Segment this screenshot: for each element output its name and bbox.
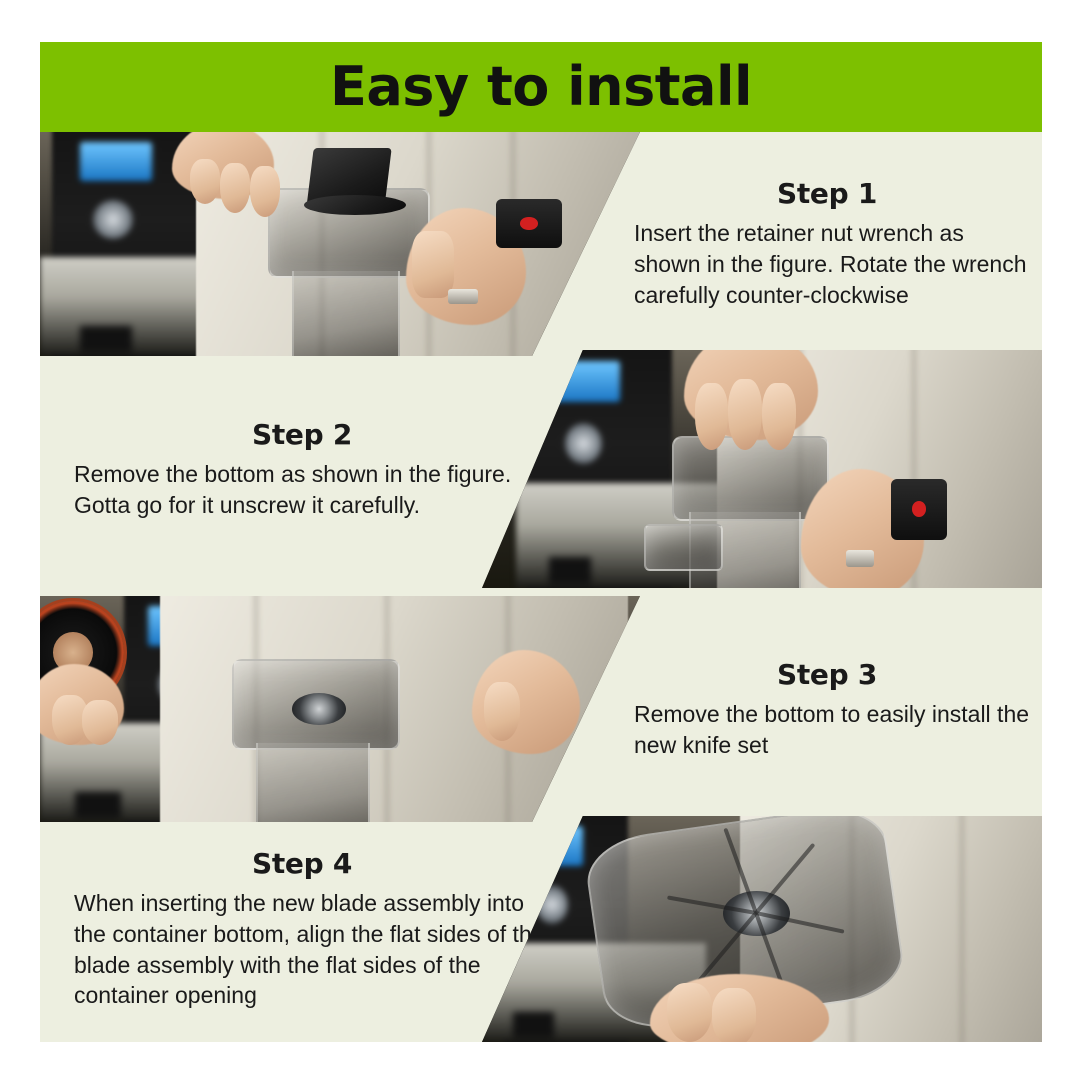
step-2-heading: Step 2 — [48, 418, 556, 451]
watch-indicator — [912, 501, 927, 517]
counter-slot — [75, 792, 120, 818]
blade-seat — [292, 693, 346, 725]
step-2-body: Remove the bottom as shown in the figure… — [48, 459, 556, 521]
step-row-1: Step 1 Insert the retainer nut wrench as… — [40, 132, 1042, 356]
container-bottom-ring — [644, 524, 722, 572]
wrench-head — [304, 195, 406, 215]
step-4-text: Step 4 When inserting the new blade asse… — [40, 816, 570, 1042]
step-1-photo — [40, 132, 640, 356]
step-3-body: Remove the bottom to easily install the … — [618, 699, 1036, 761]
step-1-heading: Step 1 — [618, 177, 1036, 210]
blender-container-body — [292, 271, 400, 356]
finger-ring — [846, 550, 874, 567]
blender-container-body — [256, 743, 370, 822]
page-title: Easy to install — [330, 60, 752, 114]
step-3-photo — [40, 596, 640, 822]
step-3-scene — [40, 596, 640, 822]
machine-screen — [80, 142, 152, 181]
counter-slot — [549, 557, 591, 584]
step-3-text: Step 3 Remove the bottom to easily insta… — [612, 596, 1042, 822]
counter-slot — [513, 1012, 553, 1038]
machine-dial — [93, 200, 134, 239]
step-2-text: Step 2 Remove the bottom as shown in the… — [40, 350, 570, 588]
step-4-heading: Step 4 — [48, 847, 556, 880]
step-row-2: Step 2 Remove the bottom as shown in the… — [40, 350, 1042, 588]
step-1-scene — [40, 132, 640, 356]
wrist-watch — [891, 479, 947, 541]
step-1-body: Insert the retainer nut wrench as shown … — [618, 218, 1036, 310]
watch-indicator — [520, 217, 537, 230]
step-1-text: Step 1 Insert the retainer nut wrench as… — [612, 132, 1042, 356]
wrist-watch — [496, 199, 562, 248]
blender-container — [672, 436, 829, 522]
infographic-canvas: Easy to install — [40, 42, 1042, 1042]
header-banner: Easy to install — [40, 42, 1042, 132]
step-row-4: Step 4 When inserting the new blade asse… — [40, 816, 1042, 1042]
step-row-3: Step 3 Remove the bottom to easily insta… — [40, 596, 1042, 822]
step-4-body: When inserting the new blade assembly in… — [48, 888, 556, 1011]
machine-dial — [565, 423, 603, 464]
finger-ring — [448, 289, 478, 305]
counter-slot — [80, 326, 132, 352]
step-3-heading: Step 3 — [618, 658, 1036, 691]
